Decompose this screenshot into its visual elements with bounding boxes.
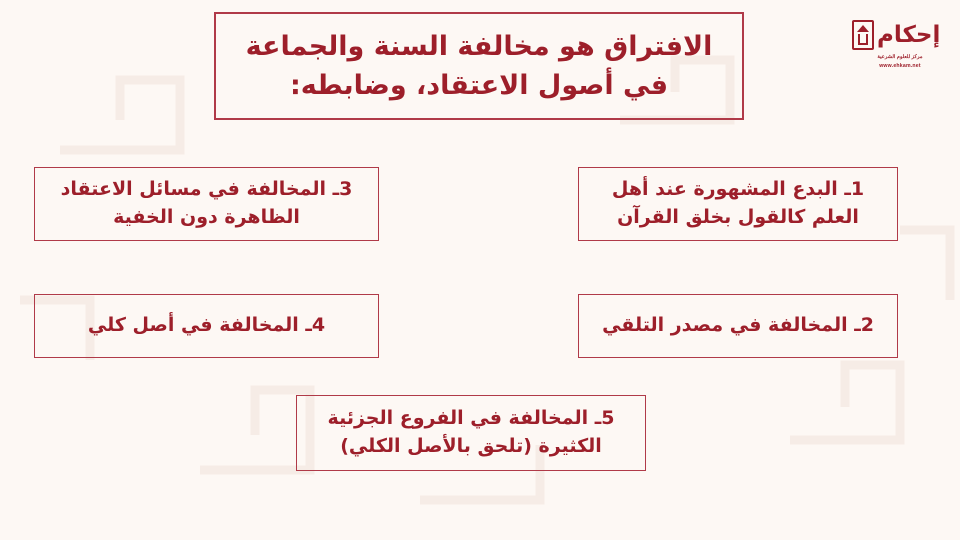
mosque-icon — [852, 20, 874, 50]
point-text-4: 4ـ المخالفة في أصل كلي — [88, 312, 325, 340]
point-text-3: 3ـ المخالفة في مسائل الاعتقاد الظاهرة دو… — [45, 176, 368, 231]
slide-title: الافتراق هو مخالفة السنة والجماعة في أصو… — [230, 27, 728, 105]
point-box-1: 1ـ البدع المشهورة عند أهل العلم كالقول ب… — [578, 167, 898, 241]
logo-subtitle-line2: www.ehkam.net — [852, 63, 948, 70]
point-text-2: 2ـ المخالفة في مصدر التلقي — [602, 312, 874, 340]
point-box-3: 3ـ المخالفة في مسائل الاعتقاد الظاهرة دو… — [34, 167, 379, 241]
logo-subtitle-line1: مركز للعلوم الشرعية — [852, 54, 948, 61]
point-box-2: 2ـ المخالفة في مصدر التلقي — [578, 294, 898, 358]
slide-title-box: الافتراق هو مخالفة السنة والجماعة في أصو… — [214, 12, 744, 120]
point-text-1: 1ـ البدع المشهورة عند أهل العلم كالقول ب… — [589, 176, 887, 231]
point-box-4: 4ـ المخالفة في أصل كلي — [34, 294, 379, 358]
brand-logo: إحكام مركز للعلوم الشرعية www.ehkam.net — [852, 18, 948, 80]
point-text-5: 5ـ المخالفة في الفروع الجزئية الكثيرة (ت… — [307, 405, 635, 460]
logo-wordmark: إحكام — [877, 24, 940, 47]
point-box-5: 5ـ المخالفة في الفروع الجزئية الكثيرة (ت… — [296, 395, 646, 471]
logo-row: إحكام — [852, 18, 948, 52]
